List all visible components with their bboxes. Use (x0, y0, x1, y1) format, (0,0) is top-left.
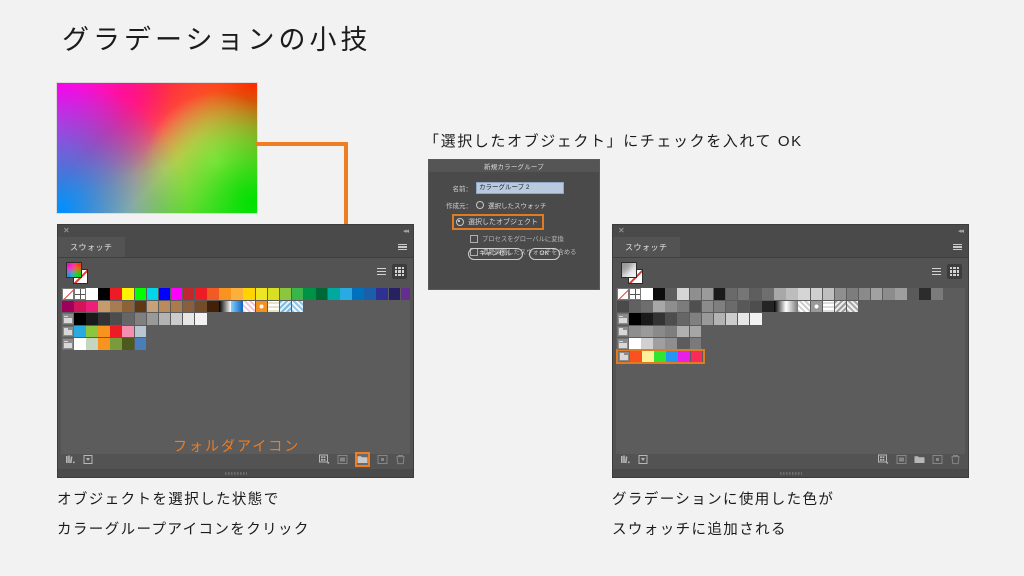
panel-topbar-left: ✕ ◂◂ (58, 225, 413, 237)
swatch-color[interactable] (316, 288, 328, 300)
swatch-color[interactable] (738, 301, 750, 313)
swatch-color[interactable] (665, 326, 677, 338)
swatch-color[interactable] (207, 288, 219, 300)
swatch-color[interactable] (86, 313, 98, 325)
dialog-titlebar: 新規カラーグループ (429, 160, 599, 172)
swatch-color[interactable] (122, 338, 134, 350)
show-swatch-kinds-icon[interactable] (83, 454, 94, 465)
list-view-icon[interactable] (929, 264, 944, 279)
swatch-color[interactable] (171, 301, 183, 313)
swatch-color[interactable] (328, 288, 340, 300)
swatch-row (61, 338, 410, 350)
color-group-folder-icon[interactable] (617, 326, 629, 338)
new-swatch-icon[interactable] (377, 454, 388, 465)
swatch-grid-left[interactable] (61, 288, 410, 454)
swatch-color[interactable] (653, 301, 665, 313)
swatch-row (616, 313, 965, 325)
dialog-name-row: 名前： カラーグループ 2 (438, 182, 590, 194)
swatch-color[interactable] (630, 351, 642, 363)
swatch-none[interactable] (62, 288, 74, 300)
swatch-color[interactable] (678, 351, 690, 363)
swatch-pattern[interactable] (292, 301, 304, 313)
folder-icon (357, 454, 368, 465)
swatch-color[interactable] (738, 313, 750, 325)
swatch-color[interactable] (256, 288, 268, 300)
swatch-color[interactable] (641, 301, 653, 313)
swatch-color[interactable] (762, 288, 774, 300)
swatch-color[interactable] (726, 288, 738, 300)
swatch-color[interactable] (871, 288, 883, 300)
swatch-color[interactable] (74, 313, 86, 325)
cancel-button[interactable]: キャンセル (468, 248, 523, 261)
color-group (617, 326, 702, 338)
swatch-color[interactable] (340, 288, 352, 300)
swatch-color[interactable] (629, 326, 641, 338)
swatch-color[interactable] (907, 288, 919, 300)
swatch-color[interactable] (895, 288, 907, 300)
swatch-color[interactable] (122, 301, 134, 313)
dialog-body: 名前： カラーグループ 2 作成元： 選択したスウォッチ 選択したオブジェクト … (429, 172, 599, 262)
swatch-color[interactable] (62, 301, 74, 313)
view-toggle-group-right (929, 264, 962, 279)
panel-menu-icon[interactable] (953, 244, 962, 251)
panel-tabrow-right: スウォッチ (613, 237, 968, 258)
new-color-group-highlight (616, 349, 705, 365)
panel-resize-handle-right[interactable] (613, 469, 968, 477)
color-group-folder-icon[interactable] (617, 313, 629, 325)
swatch-color[interactable] (86, 326, 98, 338)
swatch-color[interactable] (292, 288, 304, 300)
panel-resize-handle-left[interactable] (58, 469, 413, 477)
swatch-color[interactable] (352, 288, 364, 300)
swatch-row (616, 288, 965, 300)
swatch-color[interactable] (677, 313, 689, 325)
color-group (62, 313, 207, 325)
swatch-color[interactable] (243, 288, 255, 300)
swatch-color[interactable] (376, 288, 388, 300)
swatch-color[interactable] (835, 288, 847, 300)
swatch-color[interactable] (931, 288, 943, 300)
swatch-registration[interactable] (629, 288, 641, 300)
swatch-row (616, 301, 965, 313)
swatch-registration[interactable] (74, 288, 86, 300)
swatch-color[interactable] (677, 301, 689, 313)
swatch-color[interactable] (726, 301, 738, 313)
swatch-color[interactable] (654, 351, 666, 363)
swatch-pattern[interactable] (280, 301, 292, 313)
swatch-color[interactable] (714, 288, 726, 300)
swatch-color[interactable] (231, 288, 243, 300)
freeform-gradient-artwork (56, 82, 258, 214)
swatch-color[interactable] (86, 288, 98, 300)
swatch-color[interactable] (642, 351, 654, 363)
swatch-color[interactable] (98, 301, 110, 313)
new-color-group-dialog: 新規カラーグループ 名前： カラーグループ 2 作成元： 選択したスウォッチ 選… (428, 159, 600, 290)
delete-swatch-icon[interactable] (950, 454, 961, 465)
swatch-pattern[interactable] (243, 301, 255, 313)
dialog-name-label: 名前： (438, 183, 476, 193)
caption-right: グラデーションに使用した色が スウォッチに追加される (612, 485, 834, 545)
color-group (62, 338, 147, 350)
swatch-color[interactable] (110, 338, 122, 350)
panel-fill-header-right (613, 258, 968, 288)
color-group (617, 313, 762, 325)
folder-icon-annotation: フォルダアイコン (173, 436, 300, 456)
swatch-color[interactable] (641, 326, 653, 338)
panel-bottombar-left-group (65, 454, 94, 465)
panel-bottombar-right-group (319, 452, 406, 467)
fill-gradient-chip (621, 262, 637, 278)
swatch-color[interactable] (389, 288, 401, 300)
swatch-color[interactable] (122, 313, 134, 325)
swatch-pattern[interactable] (231, 301, 243, 313)
swatch-color[interactable] (364, 288, 376, 300)
tab-swatches-right[interactable]: スウォッチ (613, 237, 680, 257)
swatch-color[interactable] (183, 313, 195, 325)
swatch-color[interactable] (195, 301, 207, 313)
fill-gradient-chip (66, 262, 82, 278)
swatch-color[interactable] (750, 313, 762, 325)
swatch-color[interactable] (98, 288, 110, 300)
swatch-color[interactable] (401, 288, 410, 300)
swatch-color[interactable] (171, 288, 183, 300)
swatch-color[interactable] (641, 313, 653, 325)
checkbox-convert-global-label: プロセスをグローバルに変換 (482, 234, 564, 243)
swatch-color[interactable] (98, 338, 110, 350)
new-color-group-icon[interactable] (914, 454, 925, 465)
caption-right-line2: スウォッチに追加される (612, 515, 834, 545)
ok-button[interactable]: OK (529, 248, 560, 261)
panel-tabrow-left: スウォッチ (58, 237, 413, 258)
swatch-color[interactable] (110, 288, 122, 300)
swatch-pattern[interactable] (774, 301, 786, 313)
tab-swatches-left[interactable]: スウォッチ (58, 237, 125, 257)
swatch-color[interactable] (750, 301, 762, 313)
swatch-color[interactable] (183, 288, 195, 300)
radio-selected-object-label: 選択したオブジェクト (468, 217, 538, 227)
swatch-color[interactable] (110, 301, 122, 313)
swatch-row (61, 313, 410, 325)
swatch-color[interactable] (665, 288, 677, 300)
caption-left-line2: カラーグループアイコンをクリック (57, 515, 310, 545)
panel-topbar-right: ✕ ◂◂ (613, 225, 968, 237)
swatch-color[interactable] (702, 288, 714, 300)
swatch-color[interactable] (653, 288, 665, 300)
swatch-pattern[interactable] (798, 301, 810, 313)
swatch-pattern[interactable] (847, 301, 859, 313)
swatch-grid-right[interactable] (616, 288, 965, 454)
swatch-color[interactable] (690, 301, 702, 313)
swatch-color[interactable] (268, 288, 280, 300)
swatch-color[interactable] (629, 313, 641, 325)
swatch-color[interactable] (147, 288, 159, 300)
dialog-name-input[interactable]: カラーグループ 2 (476, 182, 564, 194)
swatch-pattern[interactable] (256, 301, 268, 313)
color-group-folder-icon[interactable] (62, 326, 74, 338)
fill-stroke-chip-left[interactable] (66, 262, 86, 282)
swatch-pattern[interactable] (835, 301, 847, 313)
swatch-color[interactable] (304, 288, 316, 300)
dialog-source-row: 作成元： 選択したスウォッチ (438, 200, 590, 210)
swatch-color[interactable] (690, 288, 702, 300)
swatch-color[interactable] (280, 288, 292, 300)
edit-colors-icon[interactable] (896, 454, 907, 465)
swatch-color[interactable] (823, 288, 835, 300)
dialog-title: 新規カラーグループ (484, 161, 544, 171)
grid-view-icon[interactable] (947, 264, 962, 279)
checkbox-convert-global[interactable] (470, 235, 478, 243)
collapse-icon[interactable]: ◂◂ (403, 227, 408, 235)
close-icon[interactable]: ✕ (63, 227, 70, 235)
swatch-color[interactable] (919, 288, 931, 300)
checkbox-convert-global-row: プロセスをグローバルに変換 (470, 234, 590, 243)
color-group (62, 326, 147, 338)
swatch-color[interactable] (666, 351, 678, 363)
swatch-color[interactable] (98, 313, 110, 325)
view-toggle-group-left (374, 264, 407, 279)
swatch-color[interactable] (665, 301, 677, 313)
color-group-options-icon[interactable] (878, 454, 889, 465)
page-title: グラデーションの小技 (62, 18, 371, 57)
new-swatch-icon[interactable] (932, 454, 943, 465)
swatch-color[interactable] (629, 301, 641, 313)
swatch-color[interactable] (135, 313, 147, 325)
swatch-color[interactable] (653, 326, 665, 338)
swatch-color[interactable] (135, 301, 147, 313)
dialog-source-label: 作成元： (438, 200, 476, 210)
swatch-color[interactable] (135, 326, 147, 338)
swatch-row-new-color-group (616, 351, 965, 363)
swatch-color[interactable] (86, 301, 98, 313)
swatch-color[interactable] (653, 313, 665, 325)
panel-bottombar-right-group (878, 454, 961, 465)
slide-root: グラデーションの小技 「選択したオブジェクト」にチェックを入れて OK 新規カラ… (0, 0, 1024, 576)
swatch-row (61, 301, 410, 313)
radio-selected-swatches[interactable] (476, 201, 484, 209)
swatch-color[interactable] (147, 301, 159, 313)
panel-menu-area-right (680, 237, 969, 257)
panel-menu-icon[interactable] (398, 244, 407, 251)
radio-selected-object[interactable] (456, 218, 464, 226)
panel-menu-area-left (125, 237, 414, 257)
color-group-folder-icon[interactable] (62, 313, 74, 325)
color-group-folder-icon[interactable] (618, 351, 630, 363)
radio-selected-swatches-label: 選択したスウォッチ (488, 200, 547, 210)
panel-bottombar-left-group (620, 454, 649, 465)
swatch-color[interactable] (86, 338, 98, 350)
swatch-color[interactable] (738, 288, 750, 300)
swatch-row (61, 288, 410, 300)
caption-left: オブジェクトを選択した状態で カラーグループアイコンをクリック (57, 485, 310, 545)
swatch-color[interactable] (677, 326, 689, 338)
swatch-color[interactable] (859, 288, 871, 300)
swatch-color[interactable] (74, 326, 86, 338)
swatches-panel-right: ✕ ◂◂ スウォッチ (612, 224, 969, 478)
color-group-folder-icon[interactable] (617, 338, 629, 350)
swatch-color[interactable] (690, 326, 702, 338)
delete-swatch-icon[interactable] (395, 454, 406, 465)
close-icon[interactable]: ✕ (618, 227, 625, 235)
swatch-color[interactable] (219, 288, 231, 300)
swatch-color[interactable] (726, 313, 738, 325)
swatch-color[interactable] (883, 288, 895, 300)
swatch-pattern[interactable] (219, 301, 231, 313)
swatch-color[interactable] (122, 326, 134, 338)
new-color-group-button[interactable] (355, 452, 370, 467)
swatch-libraries-icon[interactable] (620, 454, 631, 465)
list-view-icon[interactable] (374, 264, 389, 279)
swatch-color[interactable] (847, 288, 859, 300)
swatch-color[interactable] (74, 301, 86, 313)
edit-colors-icon[interactable] (337, 454, 348, 465)
swatch-color[interactable] (641, 288, 653, 300)
swatch-color[interactable] (714, 301, 726, 313)
swatch-color[interactable] (617, 301, 629, 313)
swatch-color[interactable] (195, 288, 207, 300)
swatch-color[interactable] (702, 301, 714, 313)
swatch-color[interactable] (74, 338, 86, 350)
swatch-color[interactable] (159, 313, 171, 325)
swatch-color[interactable] (159, 288, 171, 300)
swatch-row (61, 326, 410, 338)
swatch-color[interactable] (762, 301, 774, 313)
swatch-color[interactable] (702, 313, 714, 325)
swatch-pattern[interactable] (811, 301, 823, 313)
grid-view-icon[interactable] (392, 264, 407, 279)
swatch-color[interactable] (122, 288, 134, 300)
swatch-pattern[interactable] (823, 301, 835, 313)
swatch-color[interactable] (690, 313, 702, 325)
color-group-folder-icon[interactable] (62, 338, 74, 350)
radio-selected-object-highlight: 選択したオブジェクト (452, 214, 544, 230)
swatch-color[interactable] (98, 326, 110, 338)
swatch-color[interactable] (691, 351, 703, 363)
caption-left-line1: オブジェクトを選択した状態で (57, 485, 310, 515)
swatch-color[interactable] (195, 313, 207, 325)
show-swatch-kinds-icon[interactable] (638, 454, 649, 465)
caption-right-line1: グラデーションに使用した色が (612, 485, 834, 515)
swatch-color[interactable] (159, 301, 171, 313)
collapse-icon[interactable]: ◂◂ (958, 227, 963, 235)
swatch-pattern[interactable] (786, 301, 798, 313)
swatch-color[interactable] (811, 288, 823, 300)
swatch-color[interactable] (714, 313, 726, 325)
dialog-annotation: 「選択したオブジェクト」にチェックを入れて OK (424, 130, 803, 151)
swatch-color[interactable] (135, 288, 147, 300)
panel-fill-header-left (58, 258, 413, 288)
swatch-color[interactable] (207, 301, 219, 313)
swatch-color[interactable] (110, 313, 122, 325)
swatch-pattern[interactable] (268, 301, 280, 313)
swatch-color[interactable] (665, 313, 677, 325)
swatch-color[interactable] (774, 288, 786, 300)
dialog-button-row: キャンセル OK (429, 248, 599, 261)
swatch-color[interactable] (135, 338, 147, 350)
swatch-color[interactable] (183, 301, 195, 313)
swatch-row (616, 326, 965, 338)
tab-swatches-left-label: スウォッチ (70, 242, 113, 253)
swatch-color[interactable] (798, 288, 810, 300)
swatch-color[interactable] (750, 288, 762, 300)
swatch-color[interactable] (110, 326, 122, 338)
swatch-libraries-icon[interactable] (65, 454, 76, 465)
swatch-color[interactable] (677, 288, 689, 300)
swatch-color[interactable] (171, 313, 183, 325)
connector-horizontal (256, 142, 348, 146)
swatch-color[interactable] (786, 288, 798, 300)
swatch-none[interactable] (617, 288, 629, 300)
tab-swatches-right-label: スウォッチ (625, 242, 668, 253)
fill-stroke-chip-right[interactable] (621, 262, 641, 282)
panel-bottombar-right (613, 451, 968, 468)
color-group-options-icon[interactable] (319, 454, 330, 465)
swatch-color[interactable] (147, 313, 159, 325)
